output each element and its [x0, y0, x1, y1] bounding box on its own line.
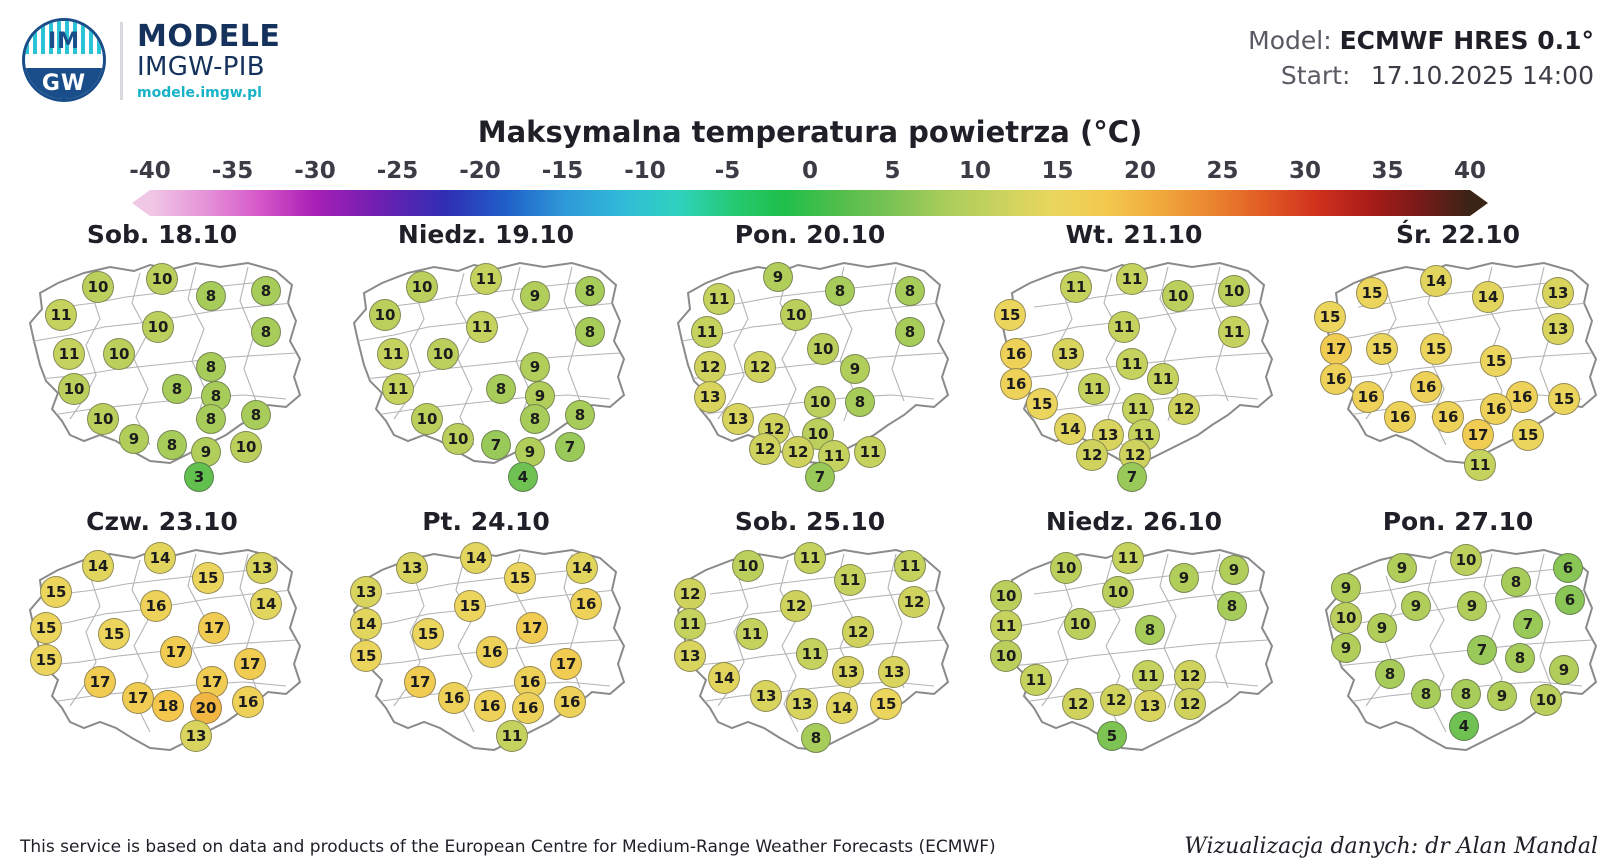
temperature-bubble: 10 — [807, 333, 839, 365]
colorbar-tick: -15 — [542, 158, 584, 184]
temperature-bubble: 9 — [1387, 553, 1417, 583]
footer-disclaimer: This service is based on data and produc… — [20, 837, 996, 857]
temperature-bubble: 16 — [1432, 401, 1464, 433]
map-row: Sob. 18.10101088111081110810881088989103… — [0, 218, 1620, 505]
temperature-bubble: 11 — [1147, 363, 1179, 395]
temperature-bubble: 7 — [1117, 462, 1147, 492]
temperature-bubble: 11 — [1132, 660, 1164, 692]
temperature-bubble: 8 — [196, 281, 226, 311]
temperature-bubble: 14 — [350, 608, 382, 640]
temperature-bubble: 13 — [832, 656, 864, 688]
temperature-bubble: 10 — [87, 403, 119, 435]
temperature-bubble: 7 — [805, 462, 835, 492]
temperature-bubble: 17 — [1320, 333, 1352, 365]
temperature-bubble: 13 — [786, 688, 818, 720]
temperature-bubble: 15 — [350, 640, 382, 672]
page-header: IM GW MODELE IMGW-PIB modele.imgw.pl Mod… — [0, 0, 1620, 115]
temperature-bubble: 15 — [40, 576, 72, 608]
colorbar-tick: 25 — [1206, 158, 1238, 184]
map-day-label: Sob. 18.10 — [0, 220, 324, 249]
forecast-map-panel[interactable]: Pon. 27.10910698610999797889889104 — [1296, 505, 1620, 792]
temperature-bubble: 11 — [1108, 311, 1140, 343]
temperature-bubble: 11 — [1464, 449, 1496, 481]
temperature-bubble: 17 — [198, 612, 230, 644]
map-day-label: Niedz. 26.10 — [972, 507, 1296, 536]
poland-map: 101088111081110810881088989103 — [0, 249, 324, 499]
temperature-bubble: 10 — [1530, 684, 1562, 716]
forecast-map-panel[interactable]: Niedz. 19.101011981011811109118910881079… — [324, 218, 648, 505]
temperature-bubble: 12 — [1076, 439, 1108, 471]
poland-map: 101198101181110911891088107974 — [324, 249, 648, 499]
forecast-map-grid: Sob. 18.10101088111081110810881088989103… — [0, 218, 1620, 792]
temperature-bubble: 12 — [674, 578, 706, 610]
temperature-bubble: 9 — [520, 281, 550, 311]
temperature-bubble: 8 — [1411, 679, 1441, 709]
poland-map: 1514131514131715151615161616151616161715… — [1296, 249, 1620, 499]
temperature-bubble: 7 — [481, 430, 511, 460]
map-day-label: Niedz. 19.10 — [324, 220, 648, 249]
imgw-logo-icon: IM GW — [22, 18, 106, 102]
temperature-bubble: 8 — [157, 430, 187, 460]
temperature-bubble: 15 — [1548, 383, 1580, 415]
temperature-bubble: 9 — [1331, 573, 1361, 603]
temperature-bubble: 10 — [442, 423, 474, 455]
colorbar-tick: 20 — [1124, 158, 1156, 184]
colorbar-tick: 30 — [1289, 158, 1321, 184]
temperature-bubble: 8 — [1217, 591, 1247, 621]
colorbar: -40-35-30-25-20-15-10-50510152025303540 — [150, 158, 1470, 216]
chart-title: Maksymalna temperatura powietrza (°C) — [0, 115, 1620, 149]
temperature-bubble: 13 — [694, 381, 726, 413]
temperature-bubble: 12 — [780, 590, 812, 622]
temperature-bubble: 8 — [251, 276, 281, 306]
colorbar-tick: -40 — [129, 158, 171, 184]
temperature-bubble: 8 — [1135, 615, 1165, 645]
temperature-bubble: 16 — [476, 636, 508, 668]
temperature-bubble: 8 — [1451, 679, 1481, 709]
temperature-bubble: 15 — [1512, 419, 1544, 451]
temperature-bubble: 8 — [1375, 659, 1405, 689]
temperature-bubble: 16 — [1000, 338, 1032, 370]
start-label: Start: — [1281, 59, 1363, 94]
temperature-bubble: 16 — [1320, 363, 1352, 395]
temperature-bubble: 11 — [794, 542, 826, 574]
temperature-bubble: 11 — [466, 311, 498, 343]
temperature-bubble: 9 — [1549, 655, 1579, 685]
temperature-bubble: 6 — [1553, 553, 1583, 583]
temperature-bubble: 9 — [1367, 613, 1397, 643]
poland-map: 1314141315161415151715161717161616161611 — [324, 536, 648, 786]
temperature-bubble: 10 — [1102, 576, 1134, 608]
temperature-bubble: 11 — [1116, 348, 1148, 380]
temperature-bubble: 11 — [382, 373, 414, 405]
temperature-bubble: 13 — [180, 720, 212, 752]
temperature-bubble: 17 — [84, 666, 116, 698]
temperature-bubble: 11 — [703, 283, 735, 315]
temperature-bubble: 8 — [251, 317, 281, 347]
temperature-bubble: 10 — [1064, 608, 1096, 640]
temperature-bubble: 9 — [763, 262, 793, 292]
temperature-bubble: 10 — [406, 271, 438, 303]
poland-map: 1111101015111116131116111115111214131112… — [972, 249, 1296, 499]
temperature-bubble: 10 — [1050, 552, 1082, 584]
temperature-bubble: 15 — [994, 299, 1026, 331]
temperature-bubble: 10 — [142, 311, 174, 343]
temperature-bubble: 11 — [377, 338, 409, 370]
temperature-bubble: 11 — [1116, 263, 1148, 295]
temperature-bubble: 13 — [1052, 338, 1084, 370]
temperature-bubble: 12 — [744, 351, 776, 383]
colorbar-tick: 40 — [1454, 158, 1486, 184]
temperature-bubble: 7 — [1467, 635, 1497, 665]
colorbar-tick: 15 — [1041, 158, 1073, 184]
temperature-bubble: 9 — [520, 352, 550, 382]
temperature-bubble: 9 — [1219, 555, 1249, 585]
temperature-bubble: 8 — [845, 387, 875, 417]
temperature-bubble: 13 — [1542, 277, 1574, 309]
brand-name: MODELE IMGW-PIB modele.imgw.pl — [137, 18, 280, 101]
temperature-bubble: 12 — [1100, 684, 1132, 716]
temperature-bubble: 11 — [674, 608, 706, 640]
temperature-bubble: 15 — [192, 562, 224, 594]
colorbar-tick: -20 — [459, 158, 501, 184]
map-row: Czw. 23.10141413151514151615171517171717… — [0, 505, 1620, 792]
temperature-bubble: 17 — [234, 648, 266, 680]
temperature-bubble: 11 — [894, 550, 926, 582]
temperature-bubble: 3 — [184, 462, 214, 492]
poland-map: 910698610999797889889104 — [1296, 536, 1620, 786]
temperature-bubble: 16 — [1352, 381, 1384, 413]
temperature-bubble: 15 — [1026, 388, 1058, 420]
temperature-bubble: 8 — [520, 404, 550, 434]
temperature-bubble: 9 — [840, 354, 870, 384]
brand-line2: IMGW-PIB — [137, 53, 280, 81]
temperature-bubble: 8 — [825, 276, 855, 306]
temperature-bubble: 14 — [566, 552, 598, 584]
temperature-bubble: 17 — [550, 648, 582, 680]
temperature-bubble: 12 — [1174, 688, 1206, 720]
temperature-bubble: 10 — [146, 263, 178, 295]
temperature-bubble: 15 — [1356, 277, 1388, 309]
temperature-bubble: 15 — [454, 590, 486, 622]
temperature-bubble: 8 — [575, 317, 605, 347]
temperature-bubble: 15 — [30, 612, 62, 644]
colorbar-tick: -10 — [624, 158, 666, 184]
temperature-bubble: 15 — [98, 618, 130, 650]
temperature-bubble: 10 — [990, 640, 1022, 672]
model-label: Model: — [1248, 24, 1331, 59]
temperature-bubble: 15 — [870, 688, 902, 720]
temperature-bubble: 16 — [1384, 401, 1416, 433]
temperature-bubble: 16 — [1410, 371, 1442, 403]
temperature-bubble: 14 — [1472, 281, 1504, 313]
temperature-bubble: 15 — [1314, 301, 1346, 333]
temperature-bubble: 8 — [895, 317, 925, 347]
temperature-bubble: 16 — [140, 590, 172, 622]
temperature-bubble: 12 — [842, 616, 874, 648]
colorbar-tick: -35 — [212, 158, 254, 184]
temperature-bubble: 5 — [1097, 721, 1127, 751]
poland-map: 101199101081110810111112121213125 — [972, 536, 1296, 786]
temperature-bubble: 11 — [1112, 542, 1144, 574]
temperature-bubble: 11 — [691, 316, 723, 348]
temperature-bubble: 14 — [826, 692, 858, 724]
forecast-map-panel[interactable]: Niedz. 26.101011991010811108101111121212… — [972, 505, 1296, 792]
temperature-bubble: 17 — [404, 666, 436, 698]
temperature-bubble: 8 — [486, 374, 516, 404]
logo-divider — [120, 22, 123, 100]
temperature-bubble: 15 — [504, 562, 536, 594]
temperature-bubble: 13 — [722, 403, 754, 435]
brand-logo-block: IM GW MODELE IMGW-PIB modele.imgw.pl — [22, 18, 280, 102]
start-value: 17.10.2025 14:00 — [1371, 61, 1594, 90]
temperature-bubble: 14 — [1054, 413, 1086, 445]
temperature-bubble: 17 — [1462, 419, 1494, 451]
temperature-bubble: 16 — [512, 692, 544, 724]
temperature-bubble: 14 — [144, 542, 176, 574]
forecast-map-panel[interactable]: Wt. 21.101111101015111116131116111115111… — [972, 218, 1296, 505]
temperature-bubble: 13 — [878, 656, 910, 688]
temperature-bubble: 10 — [1330, 602, 1362, 634]
temperature-bubble: 12 — [782, 436, 814, 468]
logo-initials-top: IM — [25, 29, 103, 54]
temperature-bubble: 15 — [1480, 345, 1512, 377]
temperature-bubble: 8 — [801, 723, 831, 753]
temperature-bubble: 9 — [1331, 633, 1361, 663]
temperature-bubble: 8 — [162, 374, 192, 404]
temperature-bubble: 10 — [990, 580, 1022, 612]
temperature-bubble: 9 — [1457, 591, 1487, 621]
temperature-bubble: 8 — [565, 400, 595, 430]
colorbar-gradient — [150, 190, 1470, 216]
temperature-bubble: 10 — [1450, 544, 1482, 576]
temperature-bubble: 11 — [854, 436, 886, 468]
temperature-bubble: 8 — [241, 400, 271, 430]
temperature-bubble: 11 — [1060, 271, 1092, 303]
model-info: Model: ECMWF HRES 0.1° Start: 17.10.2025… — [1248, 24, 1594, 93]
temperature-bubble: 10 — [780, 299, 812, 331]
temperature-bubble: 16 — [438, 682, 470, 714]
temperature-bubble: 8 — [196, 352, 226, 382]
temperature-bubble: 16 — [232, 686, 264, 718]
temperature-bubble: 15 — [412, 618, 444, 650]
temperature-bubble: 17 — [122, 682, 154, 714]
temperature-bubble: 8 — [1501, 567, 1531, 597]
temperature-bubble: 4 — [508, 462, 538, 492]
temperature-bubble: 16 — [570, 588, 602, 620]
temperature-bubble: 8 — [575, 276, 605, 306]
temperature-bubble: 10 — [804, 386, 836, 418]
colorbar-extend-max-icon — [1470, 190, 1488, 216]
colorbar-tick: 35 — [1371, 158, 1403, 184]
temperature-bubble: 12 — [898, 586, 930, 618]
temperature-bubble: 13 — [396, 552, 428, 584]
map-day-label: Sob. 25.10 — [648, 507, 972, 536]
temperature-bubble: 11 — [53, 338, 85, 370]
temperature-bubble: 10 — [82, 271, 114, 303]
temperature-bubble: 13 — [1134, 690, 1166, 722]
temperature-bubble: 10 — [58, 373, 90, 405]
temperature-bubble: 11 — [1020, 664, 1052, 696]
temperature-bubble: 13 — [246, 552, 278, 584]
map-day-label: Pon. 27.10 — [1296, 507, 1620, 536]
temperature-bubble: 16 — [554, 686, 586, 718]
start-row: Start: 17.10.2025 14:00 — [1248, 59, 1594, 94]
colorbar-tick: 10 — [959, 158, 991, 184]
temperature-bubble: 9 — [1401, 591, 1431, 621]
colorbar-tick: -5 — [715, 158, 741, 184]
temperature-bubble: 14 — [708, 662, 740, 694]
forecast-map-panel[interactable]: Pt. 24.101314141315161415151715161717161… — [324, 505, 648, 792]
map-day-label: Pt. 24.10 — [324, 507, 648, 536]
forecast-map-panel[interactable]: Śr. 22.101514131514131715151615161616151… — [1296, 218, 1620, 505]
temperature-bubble: 17 — [516, 612, 548, 644]
temperature-bubble: 8 — [1505, 643, 1535, 673]
poland-map: 1414131515141516151715171717171718201613 — [0, 536, 324, 786]
temperature-bubble: 12 — [1168, 393, 1200, 425]
temperature-bubble: 9 — [1487, 681, 1517, 711]
temperature-bubble: 8 — [895, 276, 925, 306]
temperature-bubble: 7 — [555, 432, 585, 462]
map-day-label: Pon. 20.10 — [648, 220, 972, 249]
temperature-bubble: 9 — [119, 424, 149, 454]
temperature-bubble: 11 — [496, 720, 528, 752]
colorbar-tick: 5 — [884, 158, 900, 184]
temperature-bubble: 13 — [350, 576, 382, 608]
temperature-bubble: 12 — [1062, 688, 1094, 720]
temperature-bubble: 16 — [474, 690, 506, 722]
temperature-bubble: 14 — [250, 588, 282, 620]
temperature-bubble: 11 — [736, 618, 768, 650]
temperature-bubble: 13 — [1542, 313, 1574, 345]
colorbar-tick: -25 — [377, 158, 419, 184]
temperature-bubble: 18 — [152, 690, 184, 722]
map-day-label: Śr. 22.10 — [1296, 220, 1620, 249]
temperature-bubble: 15 — [30, 644, 62, 676]
footer-credit: Wizualizacja danych: dr Alan Mandal — [1184, 834, 1598, 859]
poland-map: 101111121112111211121311131314131314158 — [648, 536, 972, 786]
temperature-bubble: 9 — [1169, 563, 1199, 593]
forecast-map-panel[interactable]: Sob. 25.10101111121112111211121311131314… — [648, 505, 972, 792]
colorbar-tick: 0 — [802, 158, 818, 184]
temperature-bubble: 4 — [1449, 711, 1479, 741]
temperature-bubble: 10 — [411, 403, 443, 435]
map-day-label: Czw. 23.10 — [0, 507, 324, 536]
temperature-bubble: 11 — [1078, 373, 1110, 405]
forecast-map-panel[interactable]: Pon. 20.10988111081110121291310813121012… — [648, 218, 972, 505]
temperature-bubble: 10 — [369, 299, 401, 331]
model-row: Model: ECMWF HRES 0.1° — [1248, 24, 1594, 59]
temperature-bubble: 11 — [990, 610, 1022, 642]
temperature-bubble: 10 — [1162, 280, 1194, 312]
temperature-bubble: 17 — [160, 636, 192, 668]
temperature-bubble: 10 — [732, 550, 764, 582]
temperature-bubble: 11 — [834, 564, 866, 596]
temperature-bubble: 12 — [749, 433, 781, 465]
poland-map: 9881110811101212913108131210121211117 — [648, 249, 972, 499]
brand-line1: MODELE — [137, 22, 280, 53]
temperature-bubble: 13 — [750, 680, 782, 712]
brand-website[interactable]: modele.imgw.pl — [137, 85, 280, 101]
model-value: ECMWF HRES 0.1° — [1340, 26, 1594, 55]
temperature-bubble: 11 — [45, 299, 77, 331]
map-day-label: Wt. 21.10 — [972, 220, 1296, 249]
temperature-bubble: 10 — [427, 338, 459, 370]
temperature-bubble: 11 — [1218, 316, 1250, 348]
temperature-bubble: 14 — [1420, 265, 1452, 297]
temperature-bubble: 14 — [460, 542, 492, 574]
temperature-bubble: 13 — [674, 640, 706, 672]
forecast-map-panel[interactable]: Czw. 23.10141413151514151615171517171717… — [0, 505, 324, 792]
temperature-bubble: 11 — [470, 263, 502, 295]
temperature-bubble: 12 — [694, 351, 726, 383]
temperature-bubble: 7 — [1513, 609, 1543, 639]
logo-initials-bottom: GW — [25, 71, 103, 96]
temperature-bubble: 15 — [1366, 333, 1398, 365]
temperature-bubble: 10 — [230, 431, 262, 463]
temperature-bubble: 11 — [796, 638, 828, 670]
temperature-bubble: 8 — [196, 404, 226, 434]
temperature-bubble: 15 — [1420, 333, 1452, 365]
colorbar-tick: -30 — [294, 158, 336, 184]
colorbar-strip — [150, 190, 1470, 216]
temperature-bubble: 10 — [103, 338, 135, 370]
colorbar-extend-min-icon — [132, 190, 150, 216]
forecast-map-panel[interactable]: Sob. 18.10101088111081110810881088989103 — [0, 218, 324, 505]
temperature-bubble: 14 — [82, 550, 114, 582]
temperature-bubble: 10 — [1218, 275, 1250, 307]
colorbar-tick-labels: -40-35-30-25-20-15-10-50510152025303540 — [150, 158, 1470, 188]
temperature-bubble: 6 — [1555, 585, 1585, 615]
